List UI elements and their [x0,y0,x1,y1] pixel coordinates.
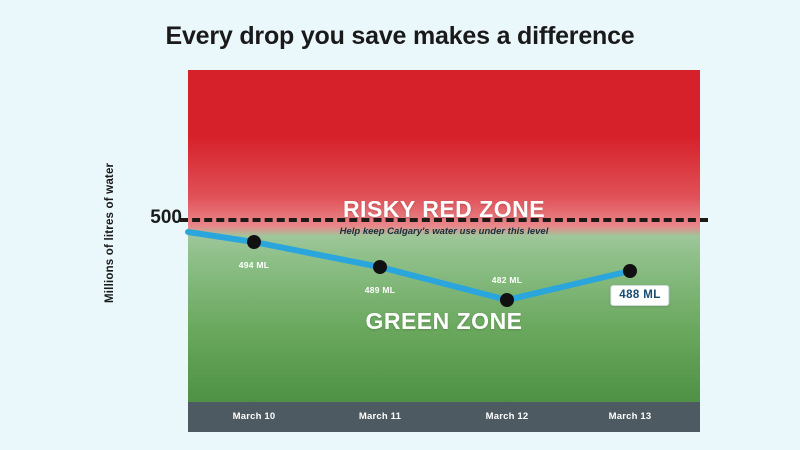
data-point-marker[interactable] [373,260,387,274]
y-axis-title: Millions of litres of water [104,133,122,333]
x-axis-tick-march-10: March 10 [233,411,276,422]
y-axis-tick-group: 500 [130,207,182,231]
data-point-label: 494 ML [239,260,270,270]
y-axis-tick-500: 500 [150,207,182,229]
data-point-marker[interactable] [247,235,261,249]
data-point-marker[interactable] [500,293,514,307]
highlighted-data-point-callout[interactable]: 488 ML [610,285,669,306]
x-axis-tick-march-11: March 11 [359,411,401,422]
x-axis-tick-march-13: March 13 [609,411,652,422]
chart-title: Every drop you save makes a difference [0,22,800,51]
data-point-label: 489 ML [365,285,396,295]
x-axis-bar: March 10 March 11 March 12 March 13 [188,402,700,432]
series-svg [188,70,700,402]
plot-area: RISKY RED ZONE GREEN ZONE Help keep Calg… [188,70,700,402]
data-point-label: 482 ML [492,275,523,285]
chart-root: Every drop you save makes a difference M… [0,0,800,450]
x-axis-tick-march-12: March 12 [486,411,529,422]
data-point-marker[interactable] [623,264,637,278]
